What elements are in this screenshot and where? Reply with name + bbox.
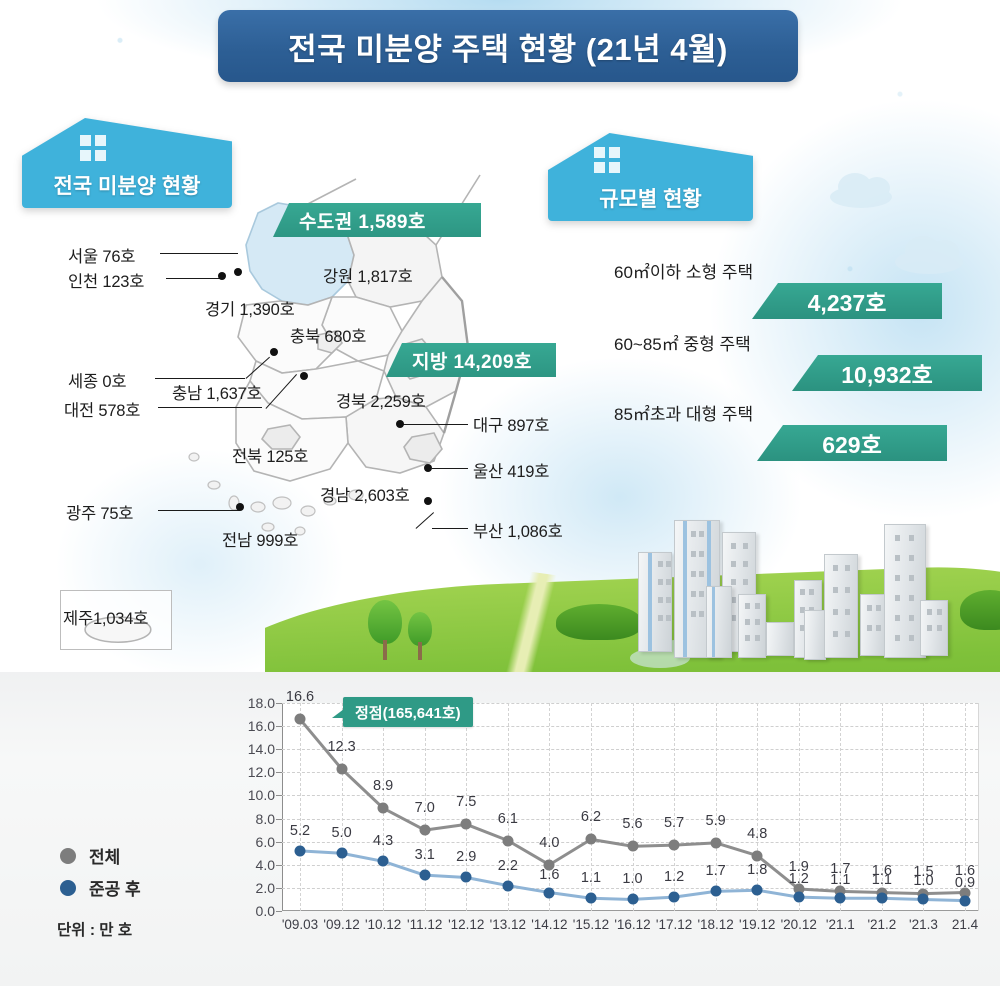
- data-point: [378, 803, 389, 814]
- value-label: 1.1: [872, 872, 892, 888]
- infographic-root: 전국 미분양 주택 현황 (21년 4월) 전국 미분양 현황 규모별 현황 미…: [0, 0, 1000, 986]
- leader-line-gwangju: [158, 510, 240, 511]
- map-dot-busan: [424, 497, 432, 505]
- apartment-buildings-illustration: [636, 468, 966, 660]
- map-label-gyeonggi: 경기 1,390호: [205, 296, 295, 320]
- x-axis-tick: '09.03: [282, 917, 318, 932]
- bush-icon: [556, 604, 642, 640]
- data-point: [502, 835, 513, 846]
- page-title: 전국 미분양 주택 현황 (21년 4월): [218, 10, 798, 82]
- window-icon: [80, 135, 106, 161]
- x-axis-tick: '21.2: [867, 917, 896, 932]
- leader-line-ulsan: [432, 468, 468, 469]
- data-point: [752, 885, 763, 896]
- data-point: [627, 841, 638, 852]
- cloud-icon: [830, 186, 892, 208]
- map-label-gangwon: 강원 1,817호: [323, 263, 413, 287]
- map-dot-incheon: [218, 272, 226, 280]
- value-label: 6.1: [498, 811, 518, 827]
- peak-callout: 정점(165,641호): [343, 697, 473, 727]
- value-label: 1.0: [622, 871, 642, 887]
- size-bar-medium: 10,932호: [792, 355, 982, 391]
- x-axis-tick: '11.12: [407, 917, 442, 932]
- leader-line-seoul: [160, 253, 238, 254]
- x-axis-tick: '19.12: [739, 917, 775, 932]
- data-point: [544, 887, 555, 898]
- data-point: [419, 825, 430, 836]
- x-axis-tick: '17.12: [656, 917, 692, 932]
- data-point: [627, 894, 638, 905]
- data-point: [461, 819, 472, 830]
- size-caption-medium: 60~85㎡ 중형 주택: [614, 330, 751, 355]
- leader-line-daegu: [400, 424, 468, 425]
- data-point: [710, 886, 721, 897]
- data-point: [419, 870, 430, 881]
- value-label: 16.6: [286, 689, 314, 705]
- data-point: [378, 856, 389, 867]
- map-label-daegu: 대구 897호: [473, 412, 549, 436]
- data-point: [876, 893, 887, 904]
- value-label: 5.6: [622, 816, 642, 832]
- building: [824, 554, 858, 658]
- data-point: [336, 763, 347, 774]
- value-label: 5.2: [290, 823, 310, 839]
- map-dot-ulsan: [424, 464, 432, 472]
- window-icon: [594, 147, 620, 173]
- map-label-busan: 부산 1,086호: [473, 518, 563, 542]
- value-label: 3.1: [415, 847, 435, 863]
- size-caption-small: 60㎡이하 소형 주택: [614, 258, 753, 283]
- size-bar-small: 4,237호: [752, 283, 942, 319]
- legend-label-total: 전체: [89, 843, 120, 868]
- data-point: [295, 845, 306, 856]
- value-label: 1.2: [789, 871, 809, 887]
- value-label: 5.9: [706, 813, 726, 829]
- chart-unit-label: 단위 : 만 호: [57, 918, 132, 940]
- map-label-sejong: 세종 0호: [68, 368, 126, 392]
- value-label: 2.2: [498, 858, 518, 874]
- leader-line-incheon: [166, 278, 222, 279]
- building: [920, 600, 948, 656]
- map-label-chungnam: 충남 1,637호: [172, 380, 262, 404]
- map-label-jeonbuk: 전북 125호: [232, 443, 308, 467]
- building: [738, 594, 766, 658]
- legend-dot-after: [60, 880, 76, 896]
- section-header-size-label: 규모별 현황: [548, 183, 753, 213]
- y-axis-tick: 12.0: [234, 764, 282, 780]
- tree-icon: [408, 612, 432, 660]
- map-dot-daegu: [396, 420, 404, 428]
- value-label: 1.6: [539, 867, 559, 883]
- value-label: 1.1: [830, 872, 850, 888]
- legend-item-total: 전체: [60, 843, 141, 868]
- x-axis-tick: '10.12: [365, 917, 401, 932]
- page-title-text: 전국 미분양 주택 현황 (21년 4월): [288, 24, 728, 69]
- value-label: 2.9: [456, 849, 476, 865]
- data-point: [295, 714, 306, 725]
- legend-item-after: 준공 후: [60, 875, 141, 900]
- value-label: 1.8: [747, 862, 767, 878]
- y-axis-tick: 18.0: [234, 695, 282, 711]
- y-axis-tick: 0.0: [234, 903, 282, 919]
- cloud-icon: [895, 250, 963, 274]
- map-label-jeonnam: 전남 999호: [222, 527, 298, 551]
- map-label-gyeongbuk: 경북 2,259호: [336, 388, 426, 412]
- y-axis-tickmark: [276, 911, 282, 912]
- value-label: 0.9: [955, 875, 975, 891]
- x-axis-tick: '20.12: [781, 917, 817, 932]
- x-axis-tick: '21.3: [909, 917, 938, 932]
- y-axis-tick: 6.0: [234, 834, 282, 850]
- x-axis-tick: 21.4: [952, 917, 978, 932]
- data-point: [918, 894, 929, 905]
- value-label: 5.0: [331, 825, 351, 841]
- value-label: 7.0: [415, 800, 435, 816]
- data-point: [336, 848, 347, 859]
- size-bar-large: 629호: [757, 425, 947, 461]
- x-axis-tick: '21.1: [826, 917, 855, 932]
- x-axis-tick: '15.12: [573, 917, 609, 932]
- y-axis-tick: 8.0: [234, 811, 282, 827]
- value-label: 7.5: [456, 794, 476, 810]
- value-label: 1.7: [706, 863, 726, 879]
- legend-label-after: 준공 후: [89, 875, 141, 900]
- leader-line-daejeon: [158, 407, 262, 408]
- y-axis-tick: 16.0: [234, 718, 282, 734]
- leader-line-busan: [432, 528, 468, 529]
- value-label: 8.9: [373, 778, 393, 794]
- building: [766, 622, 794, 656]
- y-axis-tick: 10.0: [234, 787, 282, 803]
- value-label: 1.0: [913, 873, 933, 889]
- map-dot-gwangju: [236, 503, 244, 511]
- chart-plot-area: 0.02.04.06.08.010.012.014.016.018.0 16.6…: [282, 703, 979, 911]
- x-axis-tick: '12.12: [448, 917, 484, 932]
- data-point: [585, 893, 596, 904]
- x-axis-tick: '09.12: [323, 917, 359, 932]
- value-label: 4.8: [747, 826, 767, 842]
- data-point: [835, 893, 846, 904]
- legend-dot-total: [60, 848, 76, 864]
- value-label: 12.3: [327, 739, 355, 755]
- value-label: 6.2: [581, 809, 601, 825]
- map-label-gyeongnam: 경남 2,603호: [320, 482, 410, 506]
- building: [860, 594, 886, 656]
- map-label-jeju: 제주1,034호: [63, 605, 148, 629]
- value-label: 5.7: [664, 815, 684, 831]
- y-axis-tick: 2.0: [234, 880, 282, 896]
- building: [706, 586, 732, 658]
- map-label-seoul: 서울 76호: [68, 243, 135, 267]
- data-point: [793, 892, 804, 903]
- chart-legend: 전체 준공 후: [60, 843, 141, 907]
- data-point: [710, 837, 721, 848]
- map-dot-daejeon: [300, 372, 308, 380]
- data-point: [669, 840, 680, 851]
- data-point: [669, 892, 680, 903]
- x-axis-tick: '14.12: [531, 917, 567, 932]
- x-axis-tick: '16.12: [614, 917, 650, 932]
- data-point: [502, 880, 513, 891]
- value-label: 1.2: [664, 869, 684, 885]
- x-axis-tick: '18.12: [697, 917, 733, 932]
- y-axis-tick: 14.0: [234, 741, 282, 757]
- x-axis-tick: '13.12: [490, 917, 526, 932]
- data-point: [585, 834, 596, 845]
- building: [638, 552, 672, 652]
- value-label: 4.0: [539, 835, 559, 851]
- map-label-chungbuk: 충북 680호: [290, 323, 366, 347]
- map-label-gwangju: 광주 75호: [66, 500, 133, 524]
- map-label-ulsan: 울산 419호: [473, 458, 549, 482]
- map-banner-capital: 수도권 1,589호: [273, 203, 481, 237]
- building: [804, 610, 826, 660]
- y-axis-tick: 4.0: [234, 857, 282, 873]
- value-label: 4.3: [373, 833, 393, 849]
- value-label: 1.1: [581, 870, 601, 886]
- map-label-incheon: 인천 123호: [68, 268, 144, 292]
- data-point: [752, 850, 763, 861]
- map-label-daejeon: 대전 578호: [64, 397, 140, 421]
- map-dot-seoul: [234, 268, 242, 276]
- section-header-size: 규모별 현황: [548, 133, 753, 221]
- map-dot-chungnam: [270, 348, 278, 356]
- map-banner-local: 지방 14,209호: [386, 343, 556, 377]
- data-point: [461, 872, 472, 883]
- data-point: [960, 895, 971, 906]
- size-caption-large: 85㎡초과 대형 주택: [614, 400, 753, 425]
